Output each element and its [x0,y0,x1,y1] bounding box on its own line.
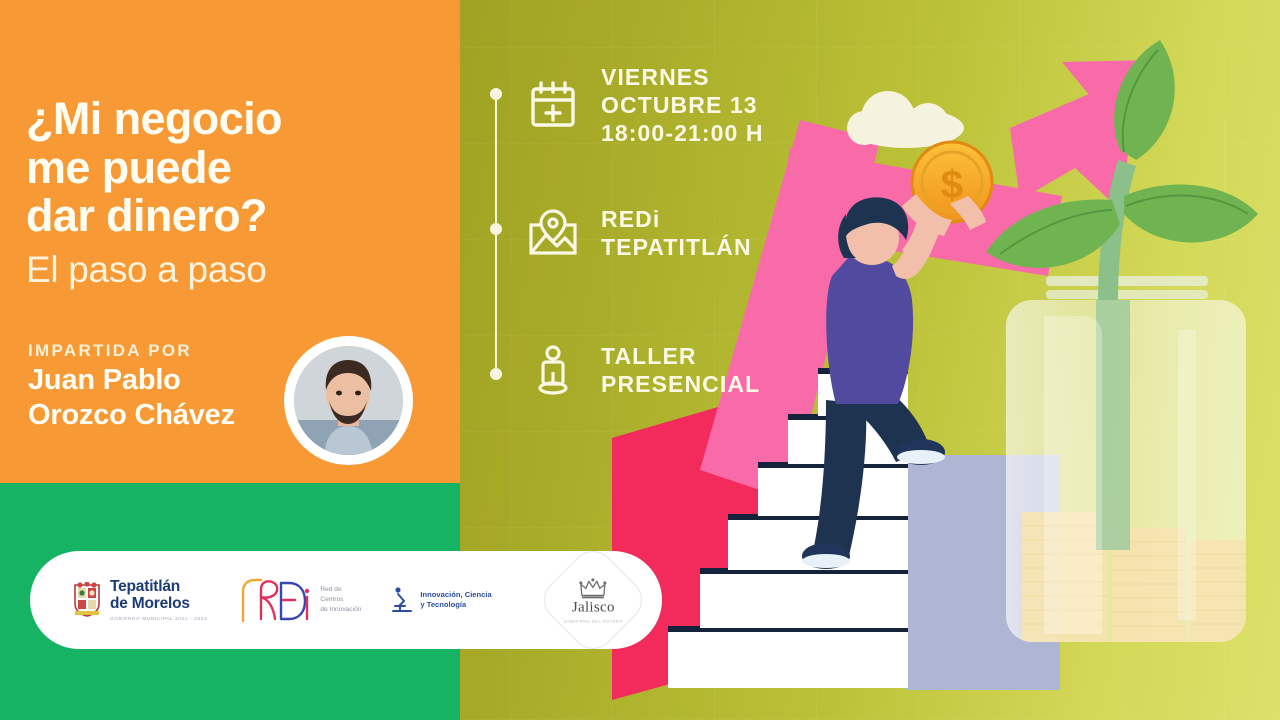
detail-text-location: REDi TEPATITLÁN [601,205,752,261]
poster-subtitle: El paso a paso [26,250,446,291]
gray-block [905,455,1060,690]
logo-innovacion-ciencia-tecnologia: Innovación, Ciencia y Tecnología [391,586,491,614]
location-line-2: TEPATITLÁN [601,233,752,261]
modality-line-1: TALLER [601,342,760,370]
savings-jar [1006,276,1246,642]
crimson-arrow-shape [612,392,830,700]
detail-row-location: REDi TEPATITLÁN [527,205,752,261]
climbing-man: $ [802,142,992,569]
detail-text-modality: TALLER PRESENCIAL [601,342,760,398]
sprouting-plant [986,40,1258,300]
pink-growth-arrow [700,60,1152,500]
jalisco-subtitle: GOBIERNO DEL ESTADO [563,618,622,623]
redi-wordmark-icon [239,577,311,623]
redi-side-line-1: Red de [320,585,361,595]
white-staircase [668,368,908,688]
sponsor-logo-bar: Tepatitlán de Morelos GOBIERNO MUNICIPAL… [30,551,662,649]
orange-title-panel: ¿Mi negocio me puede dar dinero? El paso… [0,0,460,483]
title-line-1: ¿Mi negocio [26,95,446,144]
tepatitlan-title-line-2: de Morelos [110,596,207,613]
timeline-dot-3 [490,368,502,380]
speaker-photo [294,346,403,455]
detail-timeline [490,80,502,380]
date-line-2: OCTUBRE 13 [601,91,764,119]
title-line-2: me puede [26,144,446,193]
title-block: ¿Mi negocio me puede dar dinero? El paso… [26,95,446,290]
logo-jalisco: Jalisco GOBIERNO DEL ESTADO [535,542,651,658]
detail-row-date: VIERNES OCTUBRE 13 18:00-21:00 H [527,63,764,147]
jalisco-name: Jalisco [571,599,614,616]
calendar-plus-icon [527,79,579,131]
cloud-shape [847,91,964,148]
map-location-icon [527,207,579,259]
event-poster: $ ¿Mi negocio me puede dar dinero? El pa… [0,0,1280,720]
ict-line-2: y Tecnología [420,600,491,610]
logo-redi: Red de Centros de Innovación [239,577,361,623]
modality-line-2: PRESENCIAL [601,370,760,398]
jalisco-crown-icon [578,577,608,599]
coin-dollar-symbol: $ [941,163,963,207]
detail-row-modality: TALLER PRESENCIAL [527,342,760,398]
location-line-1: REDi [601,205,752,233]
timeline-dot-2 [490,223,502,235]
date-line-3: 18:00-21:00 H [601,119,764,147]
coin-stacks [1022,300,1246,642]
tepatitlan-subtitle: GOBIERNO MUNICIPAL 2021 - 2024 [110,616,207,621]
speaker-avatar [289,341,408,460]
redi-side-line-2: Centros [320,595,361,605]
standing-person-icon [527,344,579,396]
microscope-icon [391,586,413,614]
tepatitlan-coat-of-arms-icon [72,582,102,618]
ict-line-1: Innovación, Ciencia [420,590,491,600]
title-line-3: dar dinero? [26,192,446,241]
detail-text-date: VIERNES OCTUBRE 13 18:00-21:00 H [601,63,764,147]
logo-tepatitlan: Tepatitlán de Morelos GOBIERNO MUNICIPAL… [72,579,207,620]
tepatitlan-title-line-1: Tepatitlán [110,579,207,596]
timeline-dot-1 [490,88,502,100]
redi-side-line-3: de Innovación [320,605,361,615]
date-line-1: VIERNES [601,63,764,91]
